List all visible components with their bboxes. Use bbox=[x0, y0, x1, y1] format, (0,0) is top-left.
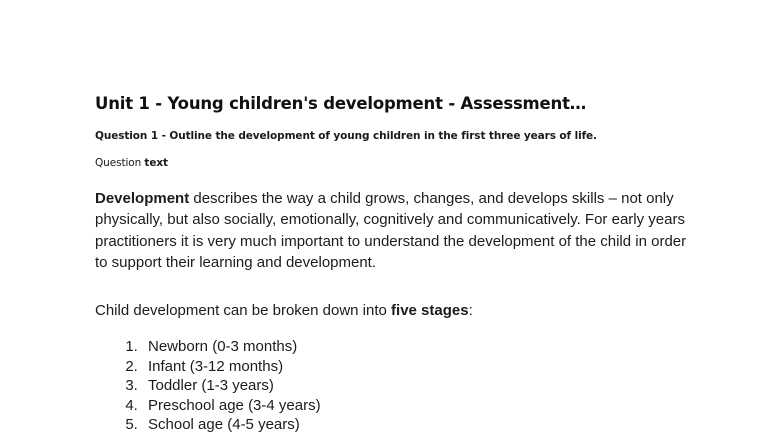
list-item: Toddler (1-3 years) bbox=[142, 376, 695, 396]
stages-list: Newborn (0-3 months) Infant (3-12 months… bbox=[95, 337, 695, 435]
list-item: Newborn (0-3 months) bbox=[142, 337, 695, 357]
development-paragraph-lead: Development bbox=[95, 190, 189, 207]
stages-intro-before: Child development can be broken down int… bbox=[95, 302, 391, 319]
stages-intro-bold: five stages bbox=[391, 302, 469, 319]
stages-intro-paragraph: Child development can be broken down int… bbox=[95, 300, 695, 322]
question-text-label: Question text bbox=[95, 157, 695, 171]
question-text-label-bold: text bbox=[144, 157, 168, 169]
document-page: Unit 1 - Young children's development - … bbox=[0, 0, 784, 441]
question-heading: Question 1 - Outline the development of … bbox=[95, 130, 695, 144]
list-item: School age (4-5 years) bbox=[142, 415, 695, 435]
document-body: Unit 1 - Young children's development - … bbox=[95, 94, 695, 435]
development-paragraph: Development describes the way a child gr… bbox=[95, 188, 687, 274]
stages-intro-after: : bbox=[469, 302, 473, 319]
list-item: Infant (3-12 months) bbox=[142, 357, 695, 377]
page-title: Unit 1 - Young children's development - … bbox=[95, 94, 695, 115]
question-text-label-regular: Question bbox=[95, 157, 144, 169]
list-item: Preschool age (3-4 years) bbox=[142, 396, 695, 416]
